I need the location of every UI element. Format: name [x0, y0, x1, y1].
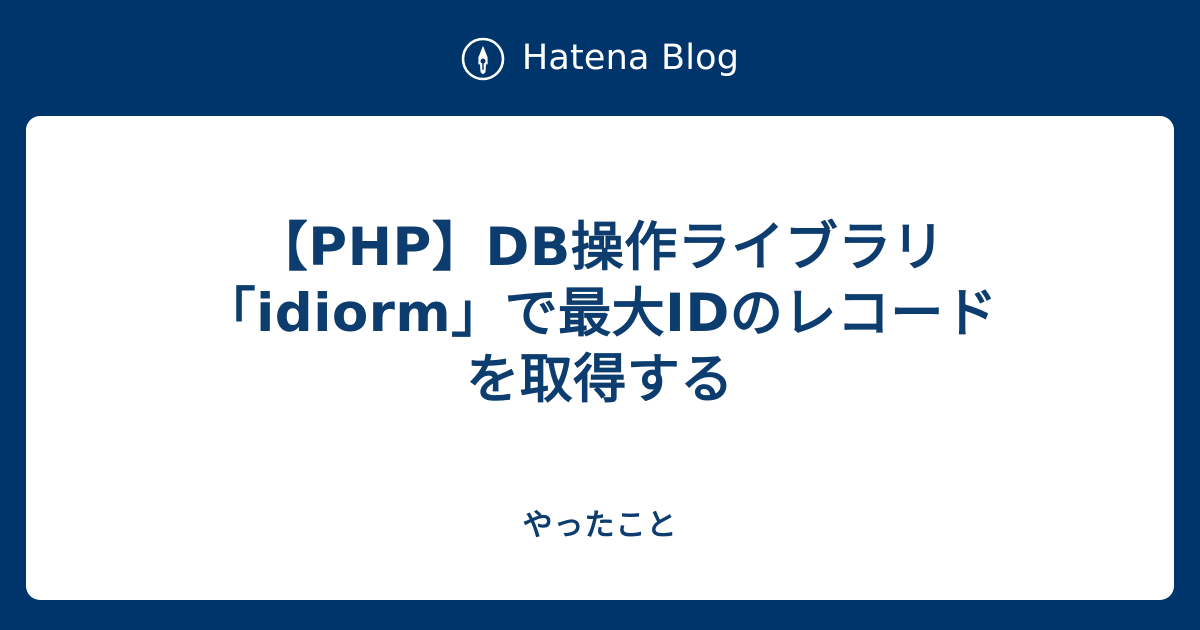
hatena-blog-wordmark: Hatena Blog	[522, 41, 739, 76]
entry-card: 【PHP】DB操作ライブラリ「idiorm」で最大IDのレコードを取得する やっ…	[26, 116, 1174, 600]
entry-subtitle: やったこと	[26, 505, 1174, 547]
entry-title: 【PHP】DB操作ライブラリ「idiorm」で最大IDのレコードを取得する	[200, 215, 1000, 413]
entry-card-inner: 【PHP】DB操作ライブラリ「idiorm」で最大IDのレコードを取得する やっ…	[26, 116, 1174, 600]
brand-header: Hatena Blog	[0, 0, 1200, 116]
hatena-pen-nib-icon	[461, 37, 505, 81]
ogp-card-root: Hatena Blog 【PHP】DB操作ライブラリ「idiorm」で最大IDの…	[0, 0, 1200, 630]
